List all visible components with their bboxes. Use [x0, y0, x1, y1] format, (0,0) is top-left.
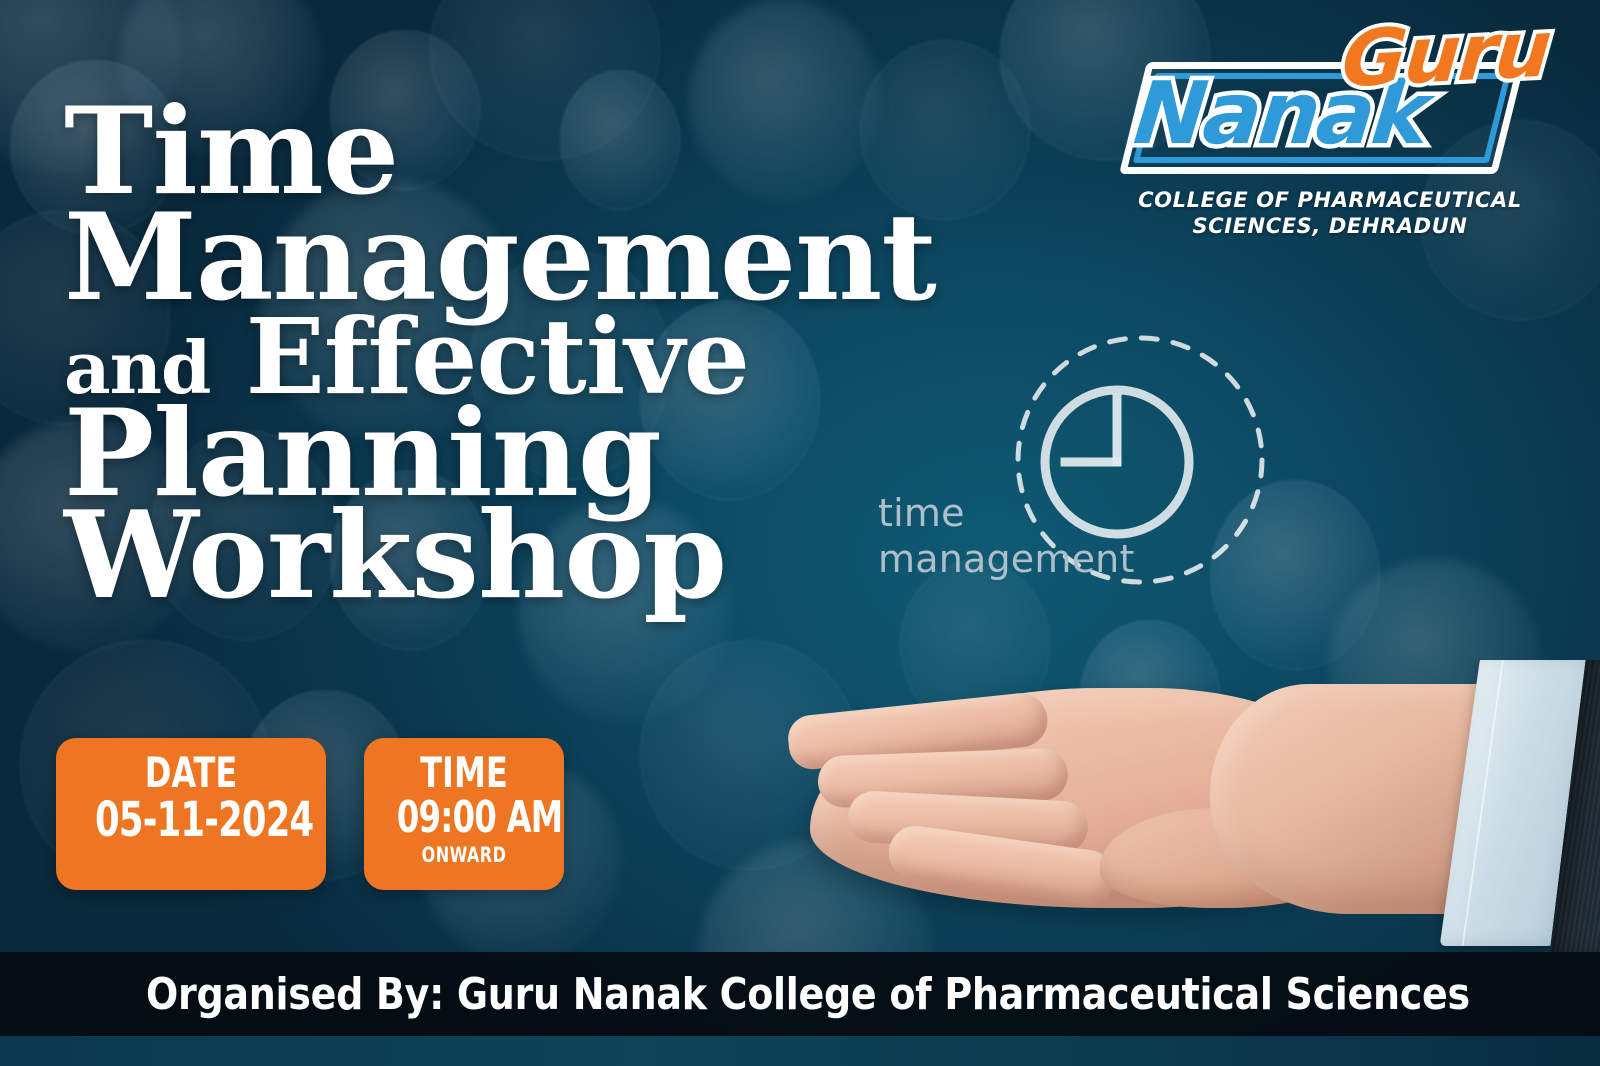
date-badge-value: 05-11-2024 [95, 795, 287, 846]
clock-caption-line-1: time [878, 490, 1135, 536]
logo-subtitle: COLLEGE OF PHARMACEUTICAL SCIENCES, DEHR… [1095, 188, 1565, 239]
organiser-text: Organised By: Guru Nanak College of Phar… [146, 969, 1470, 1020]
poster-headline: Time Management and Effective Planning W… [64, 96, 944, 611]
college-logo: Nanak Guru COLLEGE OF PHARMACEUTICAL SCI… [1095, 22, 1565, 239]
open-hand-image [770, 660, 1600, 960]
logo-mark: Nanak Guru [1115, 22, 1545, 192]
time-badge-value: 09:00 AM [397, 795, 531, 842]
time-badge: TIME 09:00 AM ONWARD [364, 738, 564, 890]
date-badge: DATE 05-11-2024 [56, 738, 326, 890]
logo-word-guru: Guru [1339, 5, 1554, 106]
time-management-graphic: time management [860, 330, 1290, 620]
event-details-badges: DATE 05-11-2024 TIME 09:00 AM ONWARD [56, 738, 564, 890]
clock-caption-line-2: management [878, 536, 1135, 582]
headline-line-5: Workshop [64, 500, 944, 612]
logo-subtitle-line-2: SCIENCES, DEHRADUN [1095, 214, 1565, 240]
time-badge-note: ONWARD [394, 843, 533, 868]
footer-bottom-strip [0, 1036, 1600, 1066]
date-badge-label: DATE [92, 750, 291, 795]
event-poster: Time Management and Effective Planning W… [0, 0, 1600, 1066]
time-badge-label: TIME [394, 750, 533, 795]
footer-band: Organised By: Guru Nanak College of Phar… [0, 952, 1600, 1036]
clock-caption: time management [878, 490, 1135, 583]
